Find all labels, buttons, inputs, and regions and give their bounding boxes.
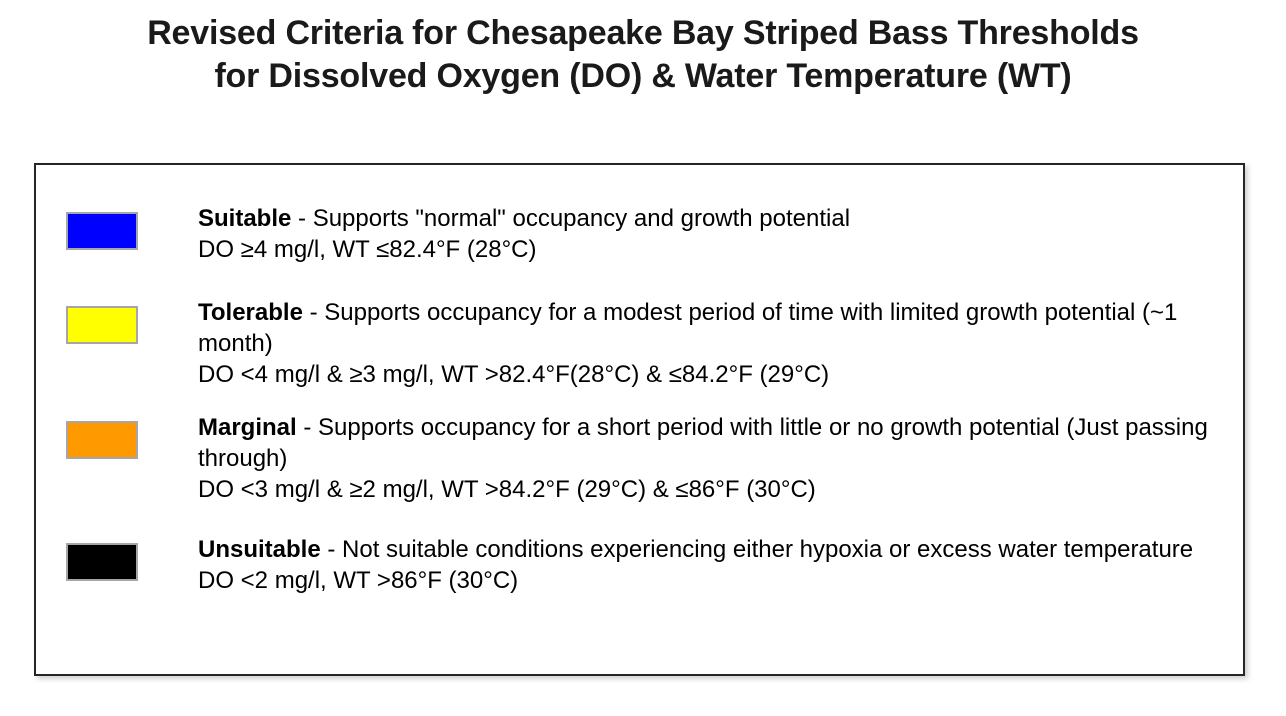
legend-entry-criteria: DO <4 mg/l & ≥3 mg/l, WT >82.4°F(28°C) &… xyxy=(198,359,1231,390)
legend-entry-description: Marginal - Supports occupancy for a shor… xyxy=(198,412,1231,474)
legend-entry-description: Tolerable - Supports occupancy for a mod… xyxy=(198,297,1231,359)
page-title-line-1: Revised Criteria for Chesapeake Bay Stri… xyxy=(28,12,1258,55)
legend-entry-text: Unsuitable - Not suitable conditions exp… xyxy=(198,534,1231,596)
legend-entry-text: Tolerable - Supports occupancy for a mod… xyxy=(198,297,1231,390)
legend-list: Suitable - Supports "normal" occupancy a… xyxy=(66,203,1231,608)
legend-entry-tolerable: Tolerable - Supports occupancy for a mod… xyxy=(66,297,1231,390)
legend-entry-name: Suitable xyxy=(198,205,291,232)
black-swatch xyxy=(66,543,138,581)
legend-entry-suitable: Suitable - Supports "normal" occupancy a… xyxy=(66,203,1231,277)
slide-canvas: Revised Criteria for Chesapeake Bay Stri… xyxy=(0,0,1286,716)
legend-entry-criteria: DO <2 mg/l, WT >86°F (30°C) xyxy=(198,565,1231,596)
legend-entry-marginal: Marginal - Supports occupancy for a shor… xyxy=(66,412,1231,505)
legend-entry-description-text: - Not suitable conditions experiencing e… xyxy=(321,536,1193,563)
legend-entry-text: Suitable - Supports "normal" occupancy a… xyxy=(198,203,1231,265)
page-title: Revised Criteria for Chesapeake Bay Stri… xyxy=(0,12,1286,98)
legend-entry-description-text: - Supports "normal" occupancy and growth… xyxy=(291,205,850,232)
orange-swatch xyxy=(66,421,138,459)
yellow-swatch xyxy=(66,306,138,344)
legend-entry-name: Tolerable xyxy=(198,299,303,326)
legend-entry-description: Suitable - Supports "normal" occupancy a… xyxy=(198,203,1231,234)
legend-entry-name: Unsuitable xyxy=(198,536,321,563)
legend-entry-criteria: DO <3 mg/l & ≥2 mg/l, WT >84.2°F (29°C) … xyxy=(198,474,1231,505)
legend-entry-text: Marginal - Supports occupancy for a shor… xyxy=(198,412,1231,505)
legend-entry-description-text: - Supports occupancy for a short period … xyxy=(198,414,1208,472)
legend-entry-criteria: DO ≥4 mg/l, WT ≤82.4°F (28°C) xyxy=(198,234,1231,265)
legend-entry-description-text: - Supports occupancy for a modest period… xyxy=(198,299,1177,357)
blue-swatch xyxy=(66,212,138,250)
legend-entry-name: Marginal xyxy=(198,414,297,441)
legend-entry-unsuitable: Unsuitable - Not suitable conditions exp… xyxy=(66,534,1231,608)
legend-panel: Suitable - Supports "normal" occupancy a… xyxy=(34,163,1245,676)
page-title-line-2: for Dissolved Oxygen (DO) & Water Temper… xyxy=(28,55,1258,98)
legend-entry-description: Unsuitable - Not suitable conditions exp… xyxy=(198,534,1231,565)
